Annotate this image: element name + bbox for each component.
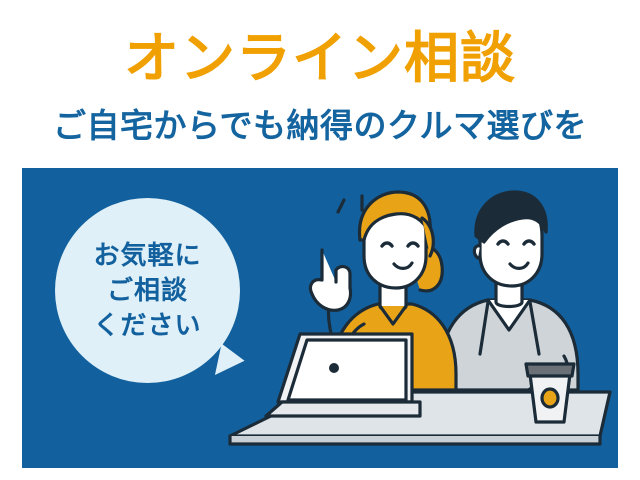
page-subtitle: ご自宅からでも納得のクルマ選びを	[0, 108, 640, 144]
speech-bubble-line-1: お気軽に	[93, 238, 201, 273]
speech-bubble-line-3: ください	[93, 308, 201, 343]
illustration-panel: お気軽に ご相談 ください	[22, 168, 618, 468]
online-consultation-banner: オンライン相談 ご自宅からでも納得のクルマ選びを お気軽に ご相談 ください	[0, 0, 640, 480]
speech-bubble-line-2: ご相談	[107, 273, 188, 308]
two-people-at-laptop-illustration	[212, 178, 618, 468]
page-title: オンライン相談	[0, 30, 640, 88]
laptop-icon	[266, 334, 420, 416]
